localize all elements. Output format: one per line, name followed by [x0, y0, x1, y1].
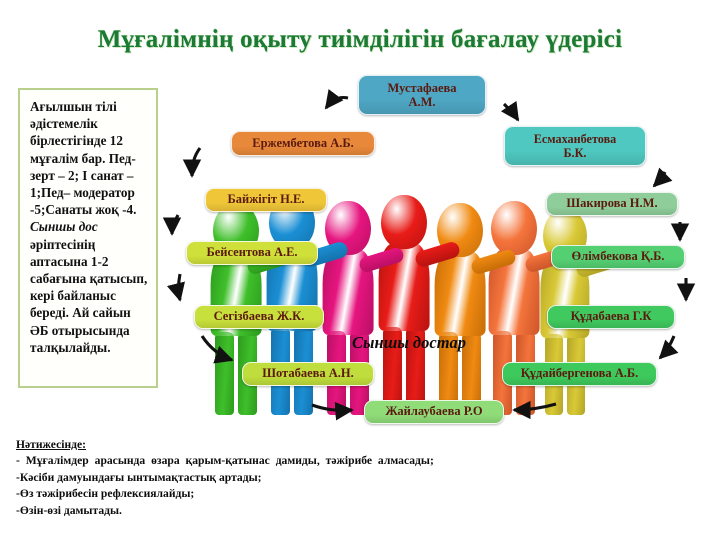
- info-line-1: Ағылшын тілі: [30, 99, 117, 114]
- name-label-text: Байжігіт Н.Е.: [228, 193, 305, 207]
- arrow-to-esmakhanbetova: [504, 104, 518, 120]
- name-label-text: Шотабаева А.Н.: [262, 367, 354, 381]
- info-line-12: береді. Ай сайын: [30, 305, 131, 320]
- figure-head: [491, 201, 537, 255]
- figure-red: [373, 195, 435, 415]
- name-label-11[interactable]: Құдайбергенова А.Б.: [502, 362, 657, 386]
- results-bullet-1: - Мұғалімдер арасында өзара қарым-қатына…: [16, 453, 716, 469]
- results-bullet-2: -Кәсіби дамуындағы ынтымақтастық артады;: [16, 470, 716, 486]
- arrow-to-shakirova: [654, 172, 665, 186]
- name-label-8[interactable]: Сегізбаева Ж.К.: [194, 305, 324, 329]
- name-label-2[interactable]: Ержембетова А.Б.: [231, 131, 375, 156]
- name-label-3[interactable]: ЕсмаханбетоваБ.К.: [504, 126, 646, 166]
- info-line-11: кері байланыс: [30, 288, 116, 303]
- arrow-to-ermzhembetova: [326, 97, 348, 108]
- info-line-10: сабағына қатысып,: [30, 271, 147, 286]
- name-label-text: Өлімбекова Қ.Б.: [571, 250, 664, 264]
- info-line-7: -5;Санаты жоқ -4.: [30, 202, 136, 217]
- results-bullet-3: -Өз тәжірибесін рефлексиялайды;: [16, 486, 716, 502]
- group-caption: Сыншы достар: [352, 333, 532, 353]
- name-label-text: Шакирова Н.М.: [566, 197, 657, 211]
- page-title: Мұғалімнің оқыту тиімділігін бағалау үде…: [0, 26, 720, 54]
- info-line-6: 1;Пед– модератор: [30, 185, 135, 200]
- arrow-to-beysentova: [172, 215, 178, 234]
- arrow-to-segizbaeva: [179, 274, 181, 300]
- name-label-text: МустафаеваА.М.: [387, 81, 456, 109]
- name-label-5[interactable]: Шакирова Н.М.: [546, 192, 678, 216]
- name-label-text: ЕсмаханбетоваБ.К.: [534, 132, 617, 160]
- arrow-to-baizhigit: [192, 148, 200, 176]
- figure-leg-left: [215, 332, 234, 415]
- arrow-to-kudaibergenova: [660, 336, 674, 358]
- info-line-13: ӘБ отырысында: [30, 323, 130, 338]
- name-label-12[interactable]: Жайлаубаева Р.О: [364, 400, 504, 424]
- name-label-7[interactable]: Өлімбекова Қ.Б.: [551, 245, 685, 269]
- info-italic-phrase: Сыншы дос: [30, 219, 98, 234]
- name-label-text: Құдабаева Г.К: [571, 310, 652, 324]
- info-line-8: әріптесінің: [30, 237, 95, 252]
- results-block: Нәтижесінде: - Мұғалімдер арасында өзара…: [16, 437, 716, 519]
- info-line-14: талқылайды.: [30, 340, 111, 355]
- info-text-box: Ағылшын тілі әдістемелік бірлестігінде 1…: [18, 88, 158, 388]
- name-label-text: Ержембетова А.Б.: [252, 137, 353, 151]
- info-line-5: зерт – 2; І санат –: [30, 168, 134, 183]
- name-label-text: Жайлаубаева Р.О: [385, 405, 482, 419]
- name-label-text: Сегізбаева Ж.К.: [214, 310, 305, 324]
- name-label-1[interactable]: МустафаеваА.М.: [358, 75, 486, 115]
- name-label-10[interactable]: Шотабаева А.Н.: [242, 362, 374, 386]
- name-label-4[interactable]: Байжігіт Н.Е.: [205, 188, 327, 212]
- name-label-text: Құдайбергенова А.Б.: [521, 367, 639, 381]
- name-label-9[interactable]: Құдабаева Г.К: [547, 305, 675, 329]
- results-heading: Нәтижесінде:: [16, 437, 716, 453]
- figure-orange: [429, 203, 491, 415]
- figure-head: [381, 195, 427, 249]
- name-label-6[interactable]: Бейсентова А.Е.: [186, 241, 318, 265]
- name-label-text: Бейсентова А.Е.: [206, 246, 297, 260]
- info-line-9: аптасына 1-2: [30, 254, 108, 269]
- info-line-3: бірлестігінде 12: [30, 133, 123, 148]
- info-line-2: әдістемелік: [30, 116, 98, 131]
- results-bullet-4: -Өзін-өзі дамытады.: [16, 503, 716, 519]
- info-line-4: мұғалім бар. Пед-: [30, 151, 136, 166]
- slide-canvas: Мұғалімнің оқыту тиімділігін бағалау үде…: [0, 0, 720, 540]
